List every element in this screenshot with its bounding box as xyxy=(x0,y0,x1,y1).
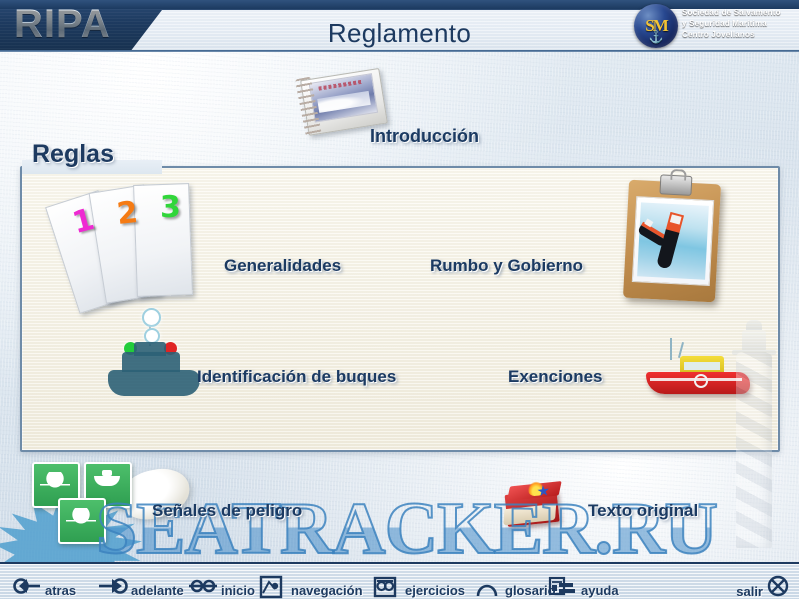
menu-item-identificacion-de-buques[interactable]: Identificación de buques xyxy=(197,367,396,387)
nav-label-atras: atras xyxy=(45,583,76,598)
menu-item-texto-original[interactable]: Texto original xyxy=(588,501,698,521)
header-top-strip xyxy=(0,0,799,9)
header-bottom-rule xyxy=(0,50,799,52)
organization-emblem: SM ⚓ xyxy=(634,4,678,48)
nav-label-salir: salir xyxy=(736,584,763,599)
nav-label-ayuda: ayuda xyxy=(581,583,619,598)
nav-item-salir[interactable]: salir xyxy=(736,566,791,599)
exercises-icon[interactable] xyxy=(372,575,402,599)
nav-item-glosario[interactable]: glosario xyxy=(472,566,556,599)
nav-item-inicio[interactable]: inicio xyxy=(188,566,255,599)
org-line-1: Sociedad de Salvamento xyxy=(682,7,798,18)
page-title: Reglamento xyxy=(0,18,799,49)
menu-item-generalidades[interactable]: Generalidades xyxy=(224,256,341,276)
nav-label-ejercicios: ejercicios xyxy=(405,583,465,598)
organization-name: Sociedad de Salvamento y Seguridad Marít… xyxy=(682,7,798,40)
menu-item-exenciones[interactable]: Exenciones xyxy=(508,367,603,387)
nav-item-ejercicios[interactable]: ejercicios xyxy=(372,566,465,599)
close-circle-icon[interactable] xyxy=(765,575,791,599)
nav-item-atras[interactable]: atras xyxy=(12,566,76,599)
menu-item-rumbo-y-gobierno[interactable]: Rumbo y Gobierno xyxy=(430,256,583,276)
app-header: RIPA Reglamento SM ⚓ Sociedad de Salvame… xyxy=(0,0,799,52)
help-window-icon[interactable] xyxy=(548,575,578,599)
nav-item-navegacion[interactable]: navegación xyxy=(258,566,363,599)
back-arrow-icon[interactable] xyxy=(12,575,42,599)
bottom-navigation-bar: atras adelante inicio xyxy=(0,562,799,599)
home-link-icon[interactable] xyxy=(188,575,218,599)
org-line-3: Centro Jovellanos xyxy=(682,29,798,40)
anchor-icon: ⚓ xyxy=(634,31,678,43)
menu-item-senales-de-peligro[interactable]: Señales de peligro xyxy=(152,501,302,521)
application-window: RIPA Reglamento SM ⚓ Sociedad de Salvame… xyxy=(0,0,799,599)
navigation-map-icon[interactable] xyxy=(258,575,288,599)
nav-label-navegacion: navegación xyxy=(291,583,363,598)
menu-item-introduccion[interactable]: Introducción xyxy=(370,126,479,147)
nav-label-adelante: adelante xyxy=(131,583,184,598)
glossary-arc-icon[interactable] xyxy=(472,575,502,599)
reglas-panel xyxy=(20,166,780,452)
nav-label-inicio: inicio xyxy=(221,583,255,598)
reglas-legend: Reglas xyxy=(24,140,122,169)
nav-item-ayuda[interactable]: ayuda xyxy=(548,566,619,599)
org-line-2: y Seguridad Marítima xyxy=(682,18,798,29)
nav-item-adelante[interactable]: adelante xyxy=(98,566,184,599)
forward-arrow-icon[interactable] xyxy=(98,575,128,599)
